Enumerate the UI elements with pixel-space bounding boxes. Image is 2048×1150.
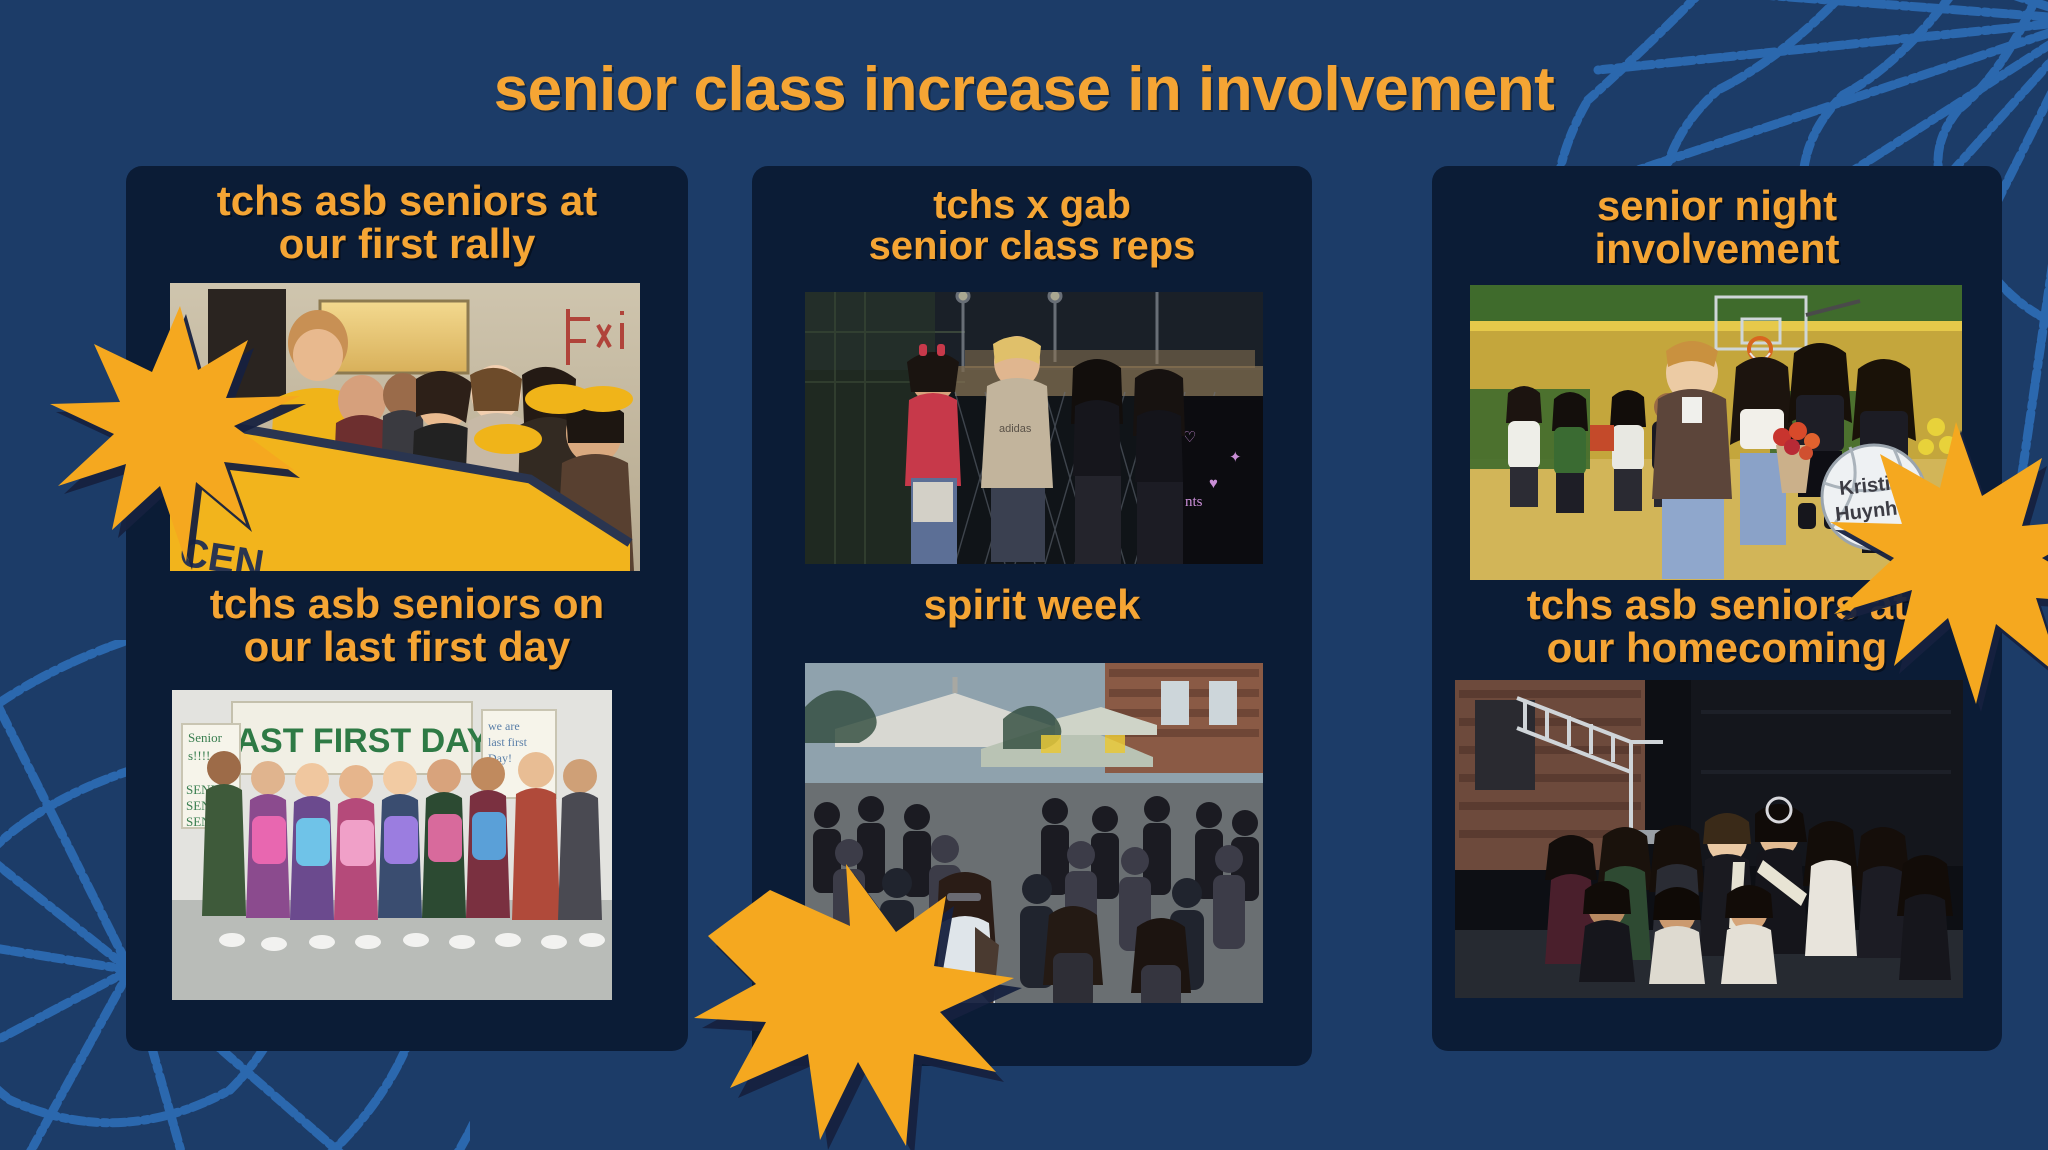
- svg-text:s!!!!: s!!!!: [188, 748, 210, 763]
- svg-text:♡: ♡: [1183, 430, 1196, 446]
- svg-text:last first: last first: [488, 735, 528, 749]
- card-title-homecoming: tchs asb seniors at our homecoming: [1432, 584, 2002, 670]
- svg-text:✦: ✦: [1229, 450, 1242, 466]
- svg-text:Senior: Senior: [188, 730, 223, 745]
- svg-text:we are: we are: [488, 719, 520, 733]
- card-title-senior-class-reps: tchs x gab senior class reps: [752, 185, 1312, 267]
- svg-text:LAST FIRST DAY: LAST FIRST DAY: [215, 722, 490, 760]
- card-title-senior-night: senior night involvement: [1432, 185, 2002, 271]
- card-title-spirit-week: spirit week: [752, 584, 1312, 627]
- photo-senior-night: Kristi #2 Huynh: [1470, 285, 1962, 580]
- page-title: senior class increase in involvement: [0, 54, 2048, 125]
- svg-text:♥: ♥: [1209, 476, 1218, 492]
- svg-text:#2: #2: [1896, 486, 1913, 503]
- card-title-first-rally: tchs asb seniors at our first rally: [126, 180, 688, 266]
- svg-text:nts: nts: [1185, 494, 1203, 510]
- photo-spirit-week: [805, 663, 1263, 1003]
- photo-senior-class-reps: ♡✦ nts♥ adidas: [805, 292, 1263, 564]
- slide-canvas: senior class increase in involvement tch…: [0, 0, 2048, 1150]
- photo-first-rally: CEN: [170, 283, 640, 571]
- card-title-last-first-day: tchs asb seniors on our last first day: [126, 583, 688, 669]
- photo-last-first-day: LAST FIRST DAY Seniors!!!! SENISENI SENI…: [172, 690, 612, 1000]
- photo-homecoming: [1455, 680, 1963, 998]
- svg-text:adidas: adidas: [999, 423, 1032, 435]
